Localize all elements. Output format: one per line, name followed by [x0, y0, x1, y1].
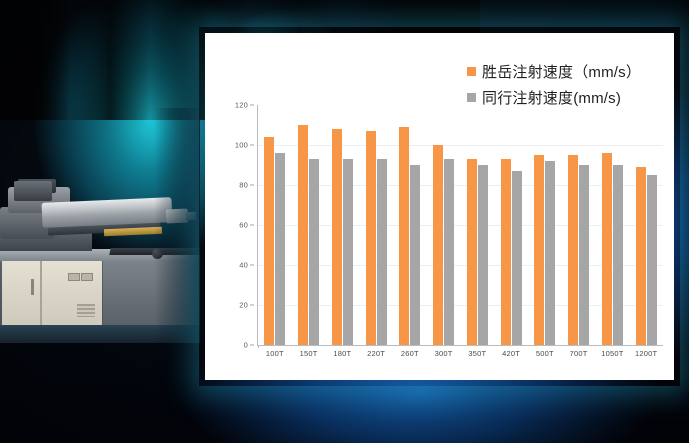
- bar-series-1[interactable]: [275, 153, 285, 345]
- y-axis-tick-label: 40: [239, 261, 248, 270]
- machine-cabinet-seam: [40, 259, 42, 325]
- bar-series-1[interactable]: [512, 171, 522, 345]
- y-axis-tick-label: 80: [239, 181, 248, 190]
- y-axis-tick-mark: [250, 185, 254, 186]
- bar-series-0[interactable]: [602, 153, 612, 345]
- machine-panel-button-left: [68, 273, 80, 281]
- bar-series-1[interactable]: [579, 165, 589, 345]
- bar-series-1[interactable]: [343, 159, 353, 345]
- y-axis-tick-mark: [250, 225, 254, 226]
- bar-group[interactable]: [528, 105, 562, 345]
- bar-series-0[interactable]: [332, 129, 342, 345]
- y-axis-tick-mark: [250, 265, 254, 266]
- bar-series-0[interactable]: [501, 159, 511, 345]
- bar-group[interactable]: [258, 105, 292, 345]
- bar-series-1[interactable]: [309, 159, 319, 345]
- y-axis-tick-label: 60: [239, 221, 248, 230]
- machine-cabinet-handle: [31, 279, 34, 295]
- bar-group[interactable]: [393, 105, 427, 345]
- y-axis-tick-label: 100: [235, 141, 248, 150]
- bar-series-1[interactable]: [377, 159, 387, 345]
- chart-plot-area: 020406080100120 100T150T180T220T260T300T…: [231, 105, 663, 346]
- legend-label-series-0: 胜岳注射速度（mm/s）: [482, 61, 641, 82]
- bar-series-1[interactable]: [410, 165, 420, 345]
- x-axis-tick-mark: [258, 345, 259, 348]
- bar-group[interactable]: [427, 105, 461, 345]
- bar-group[interactable]: [494, 105, 528, 345]
- y-axis-tick-label: 20: [239, 301, 248, 310]
- x-axis-tick-label: 1200T: [629, 349, 663, 358]
- y-axis-tick-mark: [250, 145, 254, 146]
- x-axis-tick-label: 220T: [359, 349, 393, 358]
- bar-series-1[interactable]: [444, 159, 454, 345]
- legend-swatch-series-0: [467, 67, 476, 76]
- x-axis-tick-label: 350T: [461, 349, 495, 358]
- legend-swatch-series-1: [467, 93, 476, 102]
- y-axis-tick-mark: [250, 305, 254, 306]
- bar-group[interactable]: [562, 105, 596, 345]
- legend-item-series-0: 胜岳注射速度（mm/s）: [467, 61, 641, 82]
- x-axis-tick-label: 260T: [393, 349, 427, 358]
- bar-group[interactable]: [292, 105, 326, 345]
- bar-series-0[interactable]: [264, 137, 274, 345]
- x-axis-tick-label: 700T: [562, 349, 596, 358]
- machine-photo-fade: [154, 108, 200, 343]
- x-axis-tick-label: 500T: [528, 349, 562, 358]
- bar-series-0[interactable]: [366, 131, 376, 345]
- bar-chart-panel: 胜岳注射速度（mm/s） 同行注射速度(mm/s) 02040608010012…: [205, 33, 674, 380]
- x-axis-tick-label: 100T: [258, 349, 292, 358]
- x-axis-tick-label: 150T: [292, 349, 326, 358]
- bar-series-0[interactable]: [433, 145, 443, 345]
- bar-series-0[interactable]: [399, 127, 409, 345]
- bar-group[interactable]: [359, 105, 393, 345]
- bar-series-1[interactable]: [613, 165, 623, 345]
- injection-molding-machine-photo: [0, 108, 200, 343]
- bar-series-0[interactable]: [298, 125, 308, 345]
- chart-bars: [258, 105, 663, 345]
- bar-group[interactable]: [461, 105, 495, 345]
- y-axis-tick-label: 0: [244, 341, 248, 350]
- x-axis-tick-label: 300T: [427, 349, 461, 358]
- y-axis: 020406080100120: [231, 105, 257, 346]
- x-axis-tick-label: 180T: [326, 349, 360, 358]
- y-axis-tick-mark: [250, 345, 254, 346]
- bar-series-0[interactable]: [568, 155, 578, 345]
- x-axis-tick-label: 1050T: [596, 349, 630, 358]
- machine-clamp-block: [14, 181, 52, 201]
- bar-series-0[interactable]: [534, 155, 544, 345]
- bar-series-0[interactable]: [467, 159, 477, 345]
- bar-series-1[interactable]: [545, 161, 555, 345]
- x-axis-tick-label: 420T: [494, 349, 528, 358]
- bar-group[interactable]: [596, 105, 630, 345]
- bar-series-0[interactable]: [636, 167, 646, 345]
- bar-series-1[interactable]: [647, 175, 657, 345]
- machine-panel-button-right: [81, 273, 93, 281]
- x-axis-line: [257, 345, 663, 346]
- machine-vent-grille: [77, 304, 95, 317]
- bar-group[interactable]: [326, 105, 360, 345]
- screenshot-stage: 胜岳注射速度（mm/s） 同行注射速度(mm/s) 02040608010012…: [0, 0, 689, 443]
- y-axis-tick-mark: [250, 105, 254, 106]
- y-axis-tick-label: 120: [235, 101, 248, 110]
- bar-group[interactable]: [629, 105, 663, 345]
- bar-series-1[interactable]: [478, 165, 488, 345]
- x-axis-labels: 100T150T180T220T260T300T350T420T500T700T…: [258, 349, 663, 358]
